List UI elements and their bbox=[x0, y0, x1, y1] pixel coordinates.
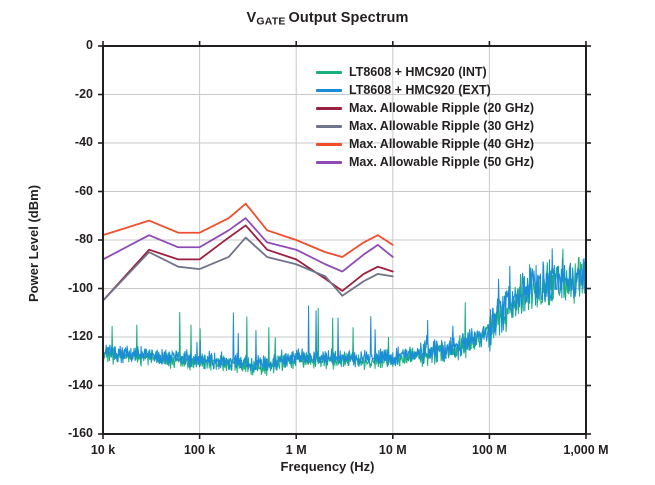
legend-item[interactable]: Max. Allowable Ripple (40 GHz) bbox=[316, 136, 534, 153]
x-tick-label: 100 k bbox=[160, 443, 240, 457]
x-tick-label: 10 k bbox=[63, 443, 143, 457]
legend-color-swatch bbox=[316, 143, 342, 146]
legend-item-label: Max. Allowable Ripple (20 GHz) bbox=[349, 102, 534, 115]
x-tick-label: 1,000 M bbox=[546, 443, 626, 457]
legend-color-swatch bbox=[316, 107, 342, 110]
legend-item-label: Max. Allowable Ripple (40 GHz) bbox=[349, 138, 534, 151]
legend-color-swatch bbox=[316, 161, 342, 164]
x-tick-label: 1 M bbox=[256, 443, 336, 457]
y-tick-label: -40 bbox=[33, 135, 93, 149]
legend-item[interactable]: Max. Allowable Ripple (30 GHz) bbox=[316, 118, 534, 135]
legend-item[interactable]: Max. Allowable Ripple (20 GHz) bbox=[316, 100, 534, 117]
x-tick-label: 10 M bbox=[353, 443, 433, 457]
legend-item-label: Max. Allowable Ripple (50 GHz) bbox=[349, 156, 534, 169]
y-tick-label: -120 bbox=[33, 329, 93, 343]
legend-item[interactable]: Max. Allowable Ripple (50 GHz) bbox=[316, 154, 534, 171]
x-axis-label: Frequency (Hz) bbox=[0, 459, 655, 474]
y-tick-label: -20 bbox=[33, 87, 93, 101]
y-tick-label: -100 bbox=[33, 281, 93, 295]
legend-item[interactable]: LT8608 + HMC920 (EXT) bbox=[316, 82, 534, 99]
chart-figure: VGATEOutput Spectrum Power Level (dBm) F… bbox=[0, 0, 655, 485]
y-tick-label: -80 bbox=[33, 232, 93, 246]
y-tick-label: -140 bbox=[33, 378, 93, 392]
legend-item-label: Max. Allowable Ripple (30 GHz) bbox=[349, 120, 534, 133]
legend-color-swatch bbox=[316, 125, 342, 128]
y-tick-label: -160 bbox=[33, 426, 93, 440]
legend-color-swatch bbox=[316, 89, 342, 92]
x-tick-label: 100 M bbox=[449, 443, 529, 457]
legend-item-label: LT8608 + HMC920 (INT) bbox=[349, 66, 487, 79]
y-tick-label: 0 bbox=[33, 38, 93, 52]
legend-item[interactable]: LT8608 + HMC920 (INT) bbox=[316, 64, 534, 81]
legend-item-label: LT8608 + HMC920 (EXT) bbox=[349, 84, 491, 97]
legend-color-swatch bbox=[316, 71, 342, 74]
y-tick-label: -60 bbox=[33, 184, 93, 198]
chart-legend: LT8608 + HMC920 (INT)LT8608 + HMC920 (EX… bbox=[316, 64, 534, 171]
